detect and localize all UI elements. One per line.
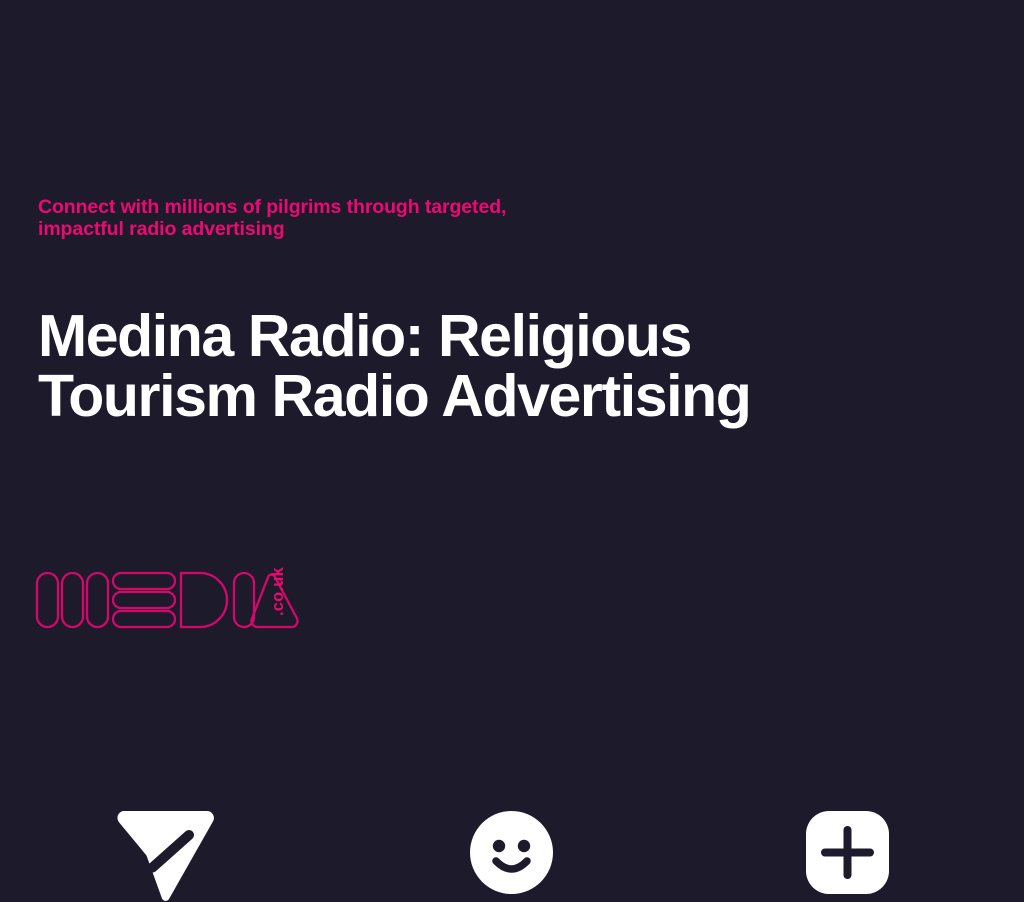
send-icon [116, 808, 214, 902]
icon-row [0, 400, 1024, 510]
plus-icon [806, 811, 889, 894]
subtitle-line-2: impactful radio advertising [38, 218, 678, 240]
logo-suffix: .co.uk [238, 576, 318, 616]
subtitle-line-1: Connect with millions of pilgrims throug… [38, 196, 678, 218]
subtitle: Connect with millions of pilgrims throug… [38, 196, 678, 240]
smiley-face-icon [470, 811, 553, 894]
slide-canvas: Connect with millions of pilgrims throug… [0, 0, 1024, 683]
headline-line-1: Medina Radio: Religious [38, 306, 878, 366]
